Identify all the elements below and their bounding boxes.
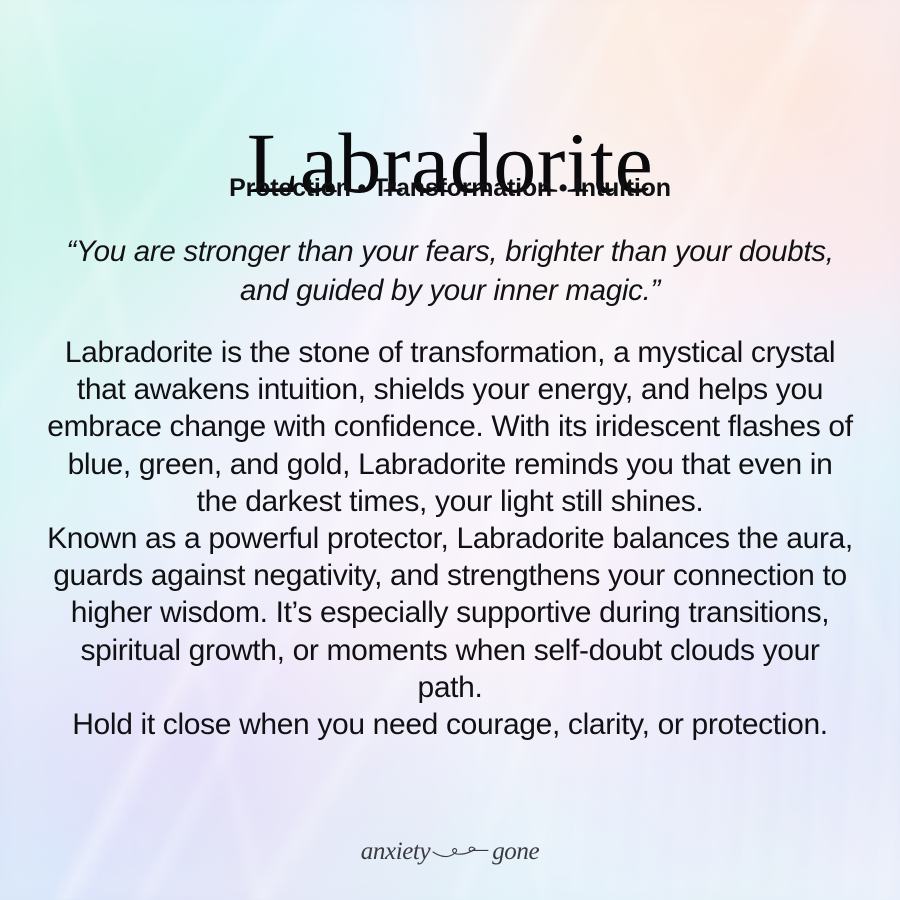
- brand-logo-word-right: gone: [492, 839, 539, 864]
- labradorite-crystal-card: Labradorite Protection • Transformation …: [0, 0, 900, 900]
- body-paragraph-2: Known as a powerful protector, Labradori…: [44, 520, 856, 706]
- card-content: Labradorite Protection • Transformation …: [0, 0, 900, 900]
- brand-logo-word-left: anxiety: [361, 839, 430, 864]
- keyword-subtitle: Protection • Transformation • Intuition: [0, 174, 900, 203]
- description-body: Labradorite is the stone of transformati…: [44, 334, 856, 743]
- brand-logo: anxiety gone: [0, 828, 900, 874]
- affirmation-quote: “You are stronger than your fears, brigh…: [58, 232, 842, 310]
- body-paragraph-1: Labradorite is the stone of transformati…: [44, 334, 856, 520]
- body-paragraph-3: Hold it close when you need courage, cla…: [44, 706, 856, 743]
- swash-flourish-icon: [432, 840, 490, 862]
